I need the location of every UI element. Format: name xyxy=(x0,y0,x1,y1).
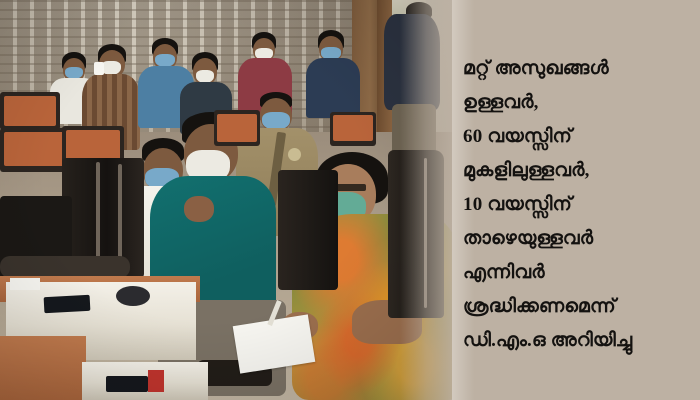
headline-line-6: താഴെയുള്ളവർ xyxy=(463,222,695,256)
headline-line-2: ഉള്ളവർ, xyxy=(463,86,695,120)
headline-line-8: ശ്രദ്ധിക്കണമെന്ന് xyxy=(463,290,695,324)
teal-man-hand xyxy=(184,196,214,222)
paper-stack xyxy=(10,278,40,290)
headline-line-4: മുകളിലുള്ളവർ, xyxy=(463,154,695,188)
chair-right-stripe xyxy=(424,158,427,308)
officer-badge xyxy=(288,148,301,161)
standing-person-body xyxy=(384,14,440,110)
chair-arm xyxy=(0,256,130,278)
mobile-phone xyxy=(44,295,91,313)
chair-cushion xyxy=(333,115,373,141)
news-graphic-canvas: മറ്റ് അസുഖങ്ങൾ ഉള്ളവർ, 60 വയസ്സിന് മുകളി… xyxy=(0,0,700,400)
chair-cushion xyxy=(4,132,68,166)
chair-cushion xyxy=(217,114,257,142)
headline-line-7: എന്നിവർ xyxy=(463,256,695,290)
headline-panel: മറ്റ് അസുഖങ്ങൾ ഉള്ളവർ, 60 വയസ്സിന് മുകളി… xyxy=(452,0,700,400)
person-body-navy xyxy=(306,58,360,118)
meeting-hall-photo xyxy=(0,0,458,400)
headline-line-3: 60 വയസ്സിന് xyxy=(463,120,695,154)
paper-cup xyxy=(94,62,104,75)
chair-cushion xyxy=(4,96,56,126)
bowl xyxy=(116,286,150,306)
chair-foreground-right xyxy=(278,170,338,290)
red-folder-edge xyxy=(148,370,164,392)
headline-block: മറ്റ് അസുഖങ്ങൾ ഉള്ളവർ, 60 വയസ്സിന് മുകളി… xyxy=(463,52,695,358)
chair-right-backrest xyxy=(388,150,444,318)
headline-line-9: ഡി.എം.ഒ അറിയിച്ചു xyxy=(463,324,695,358)
headline-line-1: മറ്റ് അസുഖങ്ങൾ xyxy=(463,52,695,86)
mobile-phone xyxy=(106,376,148,392)
face-mask-white xyxy=(101,61,121,75)
headline-line-5: 10 വയസ്സിന് xyxy=(463,188,695,222)
table-surface-lower xyxy=(0,336,86,400)
